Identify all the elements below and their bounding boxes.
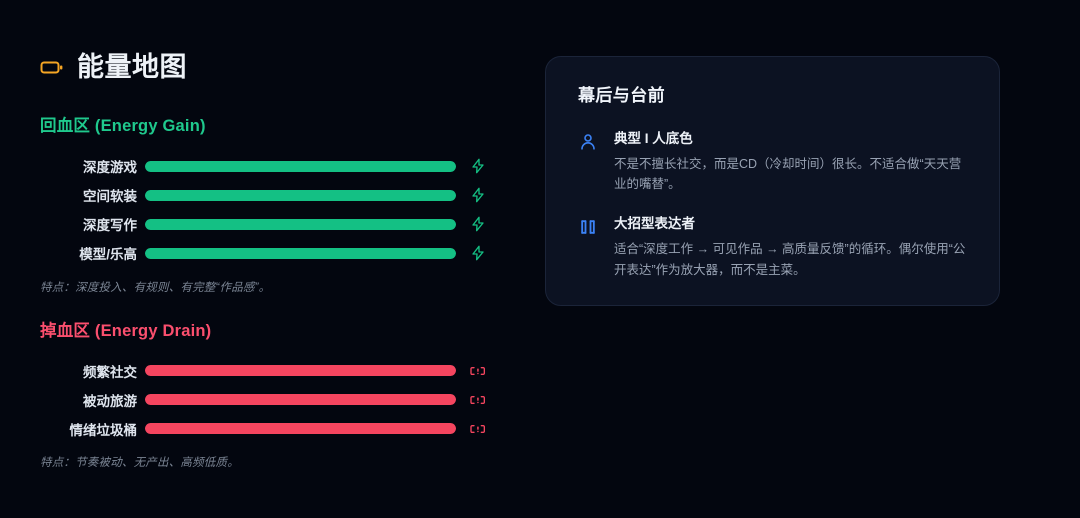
bar-track	[145, 248, 456, 259]
bar-list-gain: 深度游戏 空间软装	[40, 152, 510, 268]
bar-list-drain: 频繁社交 被动旅游	[40, 356, 510, 443]
card-item[interactable]: 典型 I 人底色 不是不擅长社交，而是CD（冷却时间）很长。不适合做“天天营业的…	[578, 131, 967, 194]
card-item-title: 大招型表达者	[614, 216, 967, 233]
bar-label: 频繁社交	[40, 361, 145, 381]
energy-map-page: 能量地图 回血区 (Energy Gain) 深度游戏 空间软装	[0, 0, 1080, 518]
bar-row[interactable]: 深度游戏	[40, 152, 510, 181]
zap-icon	[470, 245, 486, 261]
card-title: 幕后与台前	[578, 87, 967, 104]
bar-row[interactable]: 被动旅游	[40, 385, 510, 414]
bar-track	[145, 394, 456, 405]
bar-label: 模型/乐高	[40, 243, 145, 263]
footnote-drain: 特点：节奏被动、无产出、高频低质。	[40, 454, 510, 470]
bar-track	[145, 161, 456, 172]
zap-icon	[470, 216, 486, 232]
card-item-list: 典型 I 人底色 不是不擅长社交，而是CD（冷却时间）很长。不适合做“天天营业的…	[578, 131, 967, 280]
bar-track	[145, 423, 456, 434]
card-item-body: 典型 I 人底色 不是不擅长社交，而是CD（冷却时间）很长。不适合做“天天营业的…	[614, 131, 967, 194]
bar-label: 深度游戏	[40, 156, 145, 176]
section-energy-gain: 回血区 (Energy Gain) 深度游戏 空间软装	[40, 118, 510, 295]
bar-track	[145, 365, 456, 376]
card-item[interactable]: 大招型表达者 适合“深度工作 → 可见作品 → 高质量反馈”的循环。偶尔使用“公…	[578, 216, 967, 279]
footnote-gain: 特点：深度投入、有规则、有完整“作品感”。	[40, 279, 510, 295]
bar-track	[145, 219, 456, 230]
zap-icon	[470, 187, 486, 203]
zap-icon	[470, 158, 486, 174]
insight-card: 幕后与台前 典型 I 人底色 不是不擅长社交，而是CD（冷却时间）很长。不适合做…	[545, 56, 1000, 306]
bar-fill	[145, 161, 456, 172]
quote-icon	[578, 217, 598, 237]
bar-track	[145, 190, 456, 201]
bar-fill	[145, 365, 456, 376]
section-heading-drain: 掉血区 (Energy Drain)	[40, 323, 510, 340]
card-item-desc: 适合“深度工作 → 可见作品 → 高质量反馈”的循环。偶尔使用“公开表达”作为放…	[614, 239, 967, 280]
section-energy-drain: 掉血区 (Energy Drain) 频繁社交 被动旅游	[40, 323, 510, 471]
bar-row[interactable]: 深度写作	[40, 210, 510, 239]
bar-fill	[145, 219, 456, 230]
bar-label: 深度写作	[40, 214, 145, 234]
bar-label: 被动旅游	[40, 390, 145, 410]
bar-row[interactable]: 频繁社交	[40, 356, 510, 385]
card-item-title: 典型 I 人底色	[614, 131, 967, 148]
bar-label: 情绪垃圾桶	[40, 419, 145, 439]
bar-fill	[145, 190, 456, 201]
bar-fill	[145, 423, 456, 434]
page-title: 能量地图	[77, 54, 187, 81]
bar-label: 空间软装	[40, 185, 145, 205]
battery-low-icon	[470, 421, 486, 437]
page-title-row: 能量地图	[40, 48, 510, 86]
person-icon	[578, 132, 598, 152]
battery-low-icon	[470, 392, 486, 408]
bar-fill	[145, 248, 456, 259]
card-item-desc: 不是不擅长社交，而是CD（冷却时间）很长。不适合做“天天营业的嘴替”。	[614, 154, 967, 195]
battery-icon	[40, 55, 64, 79]
bar-row[interactable]: 模型/乐高	[40, 239, 510, 268]
bar-row[interactable]: 空间软装	[40, 181, 510, 210]
left-column: 能量地图 回血区 (Energy Gain) 深度游戏 空间软装	[40, 48, 510, 470]
battery-low-icon	[470, 363, 486, 379]
card-item-body: 大招型表达者 适合“深度工作 → 可见作品 → 高质量反馈”的循环。偶尔使用“公…	[614, 216, 967, 279]
bar-fill	[145, 394, 456, 405]
section-heading-gain: 回血区 (Energy Gain)	[40, 118, 510, 135]
bar-row[interactable]: 情绪垃圾桶	[40, 414, 510, 443]
